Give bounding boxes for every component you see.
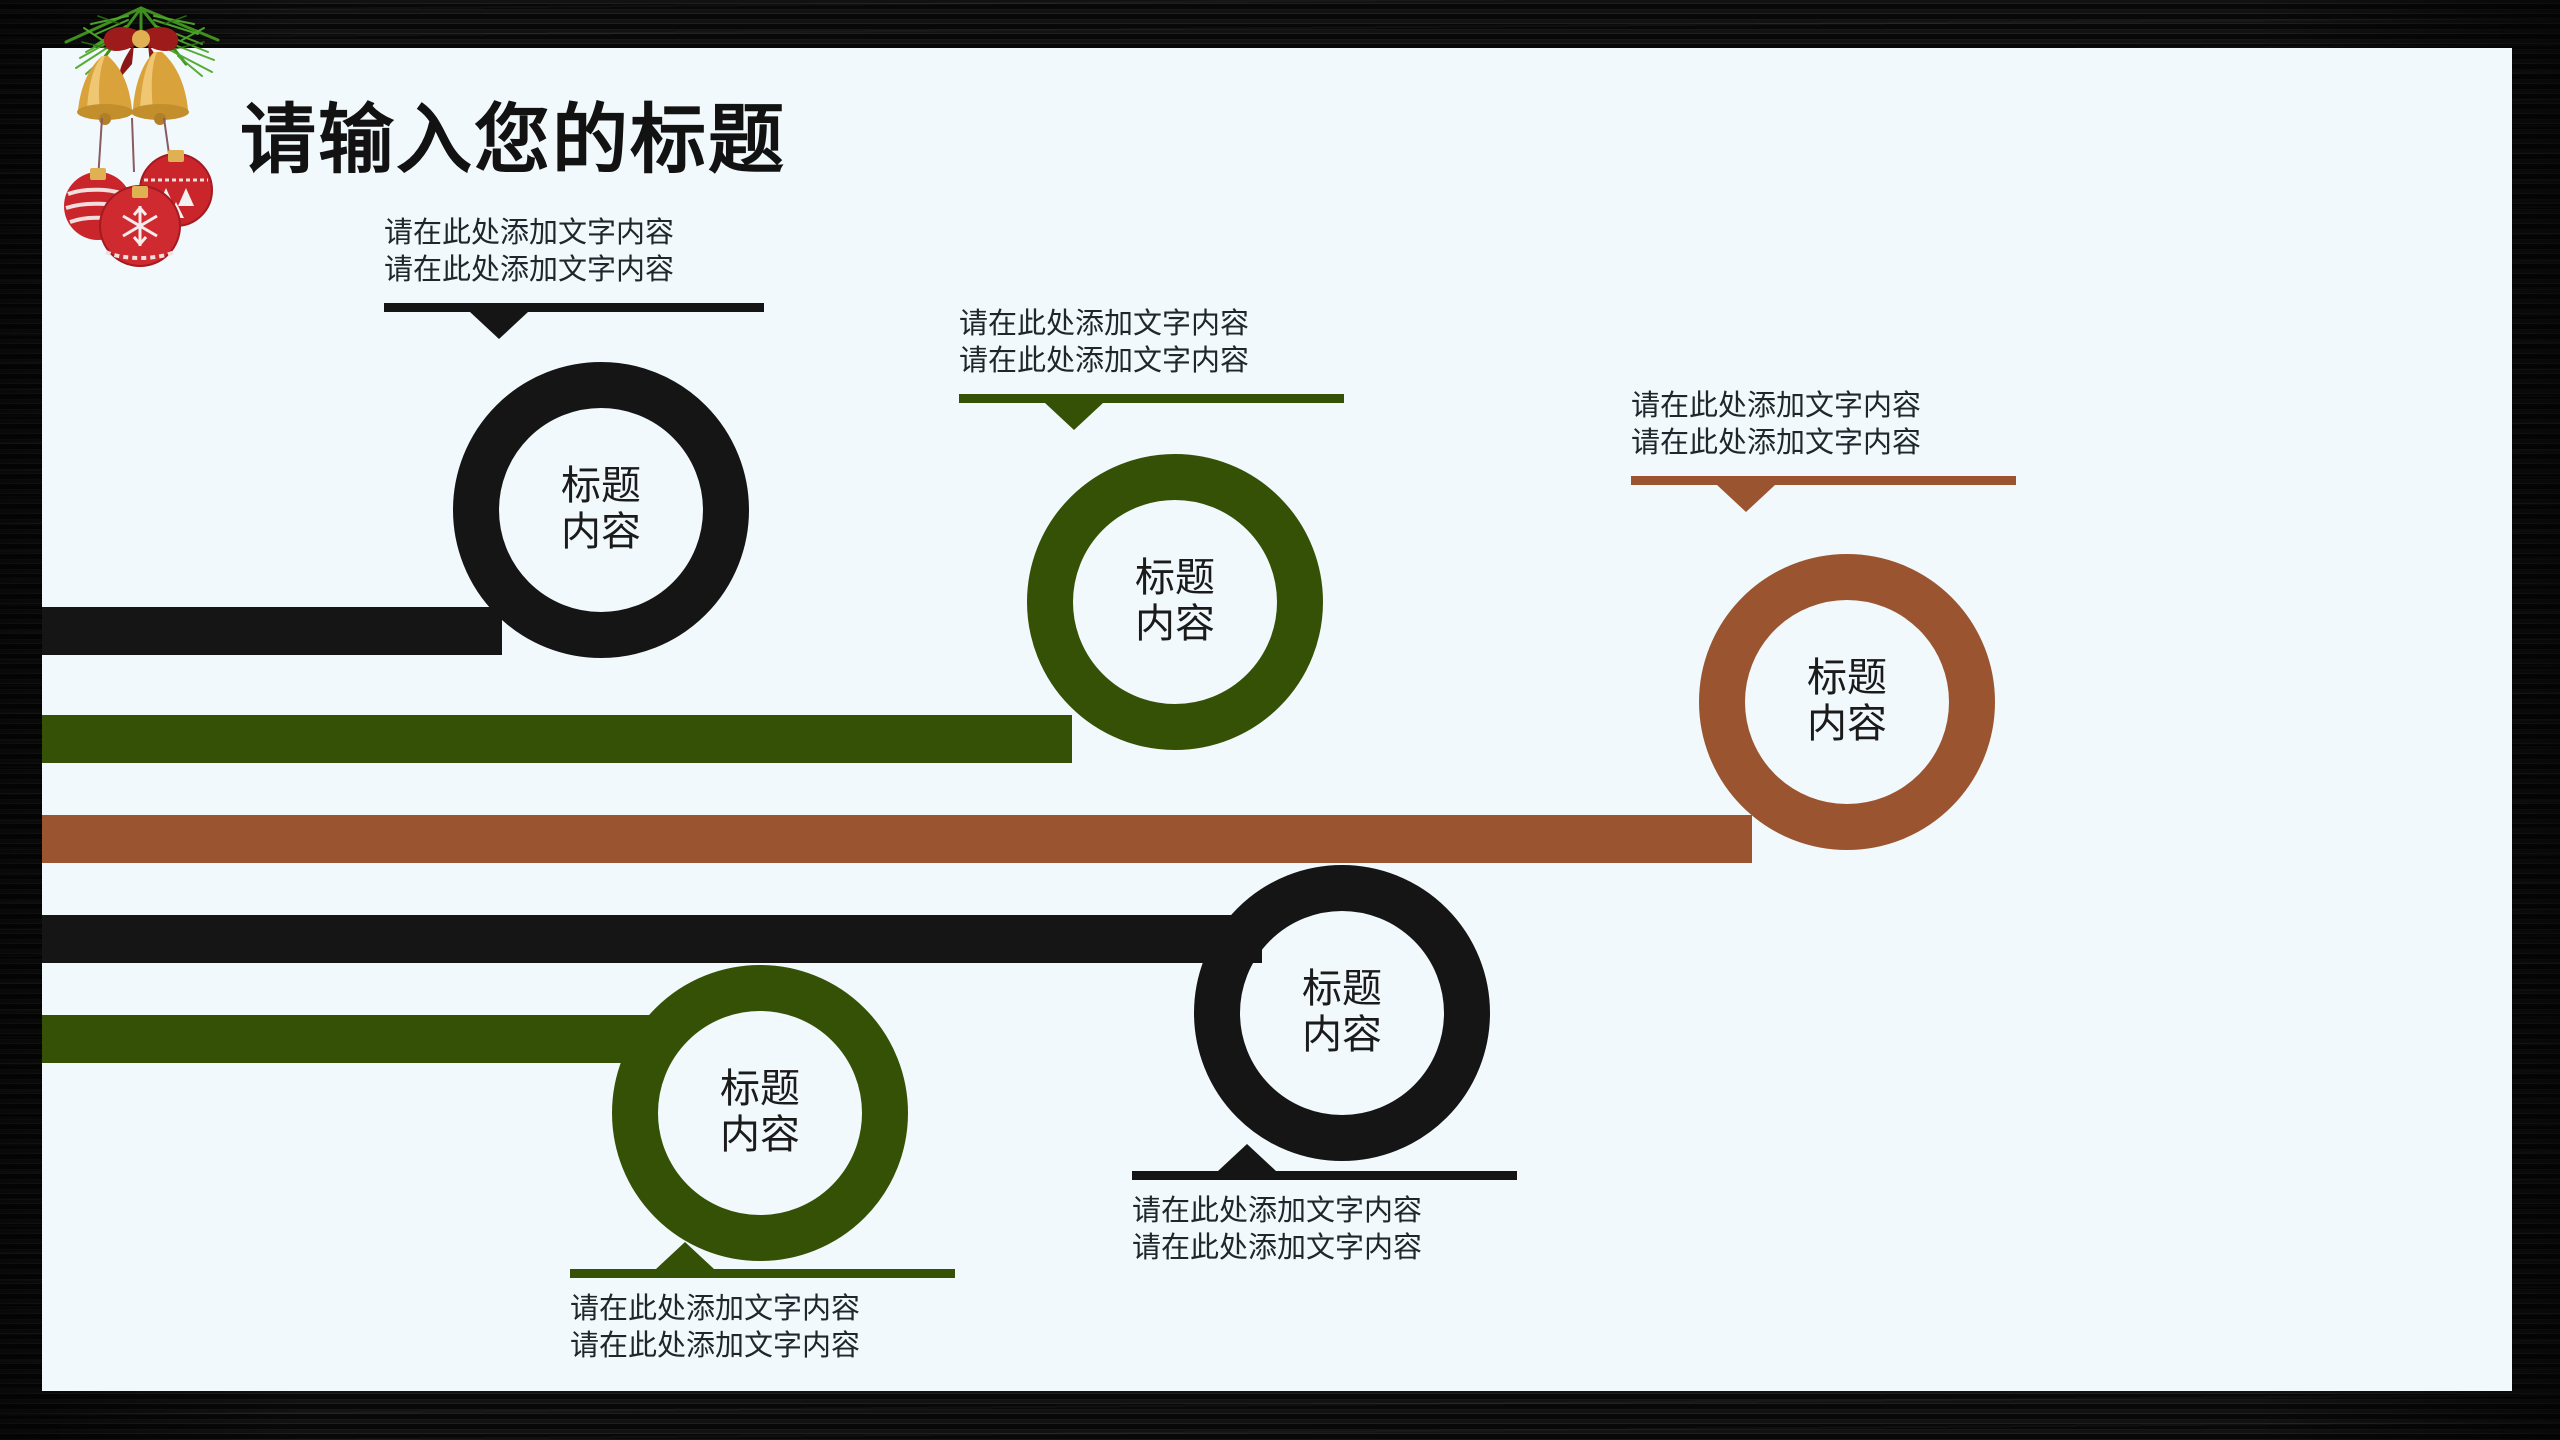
connector-line-green-lower [42, 1015, 662, 1063]
caption-node-5: 请在此处添加文字内容 请在此处添加文字内容 [1132, 1171, 1517, 1267]
connector-line-black-lower [42, 915, 1262, 963]
caption-text: 请在此处添加文字内容 请在此处添加文字内容 [570, 1291, 955, 1365]
caption-pointer-down-icon [470, 312, 528, 339]
node-circle-5[interactable]: 标题 内容 [1194, 865, 1490, 1161]
caption-text: 请在此处添加文字内容 请在此处添加文字内容 [1631, 388, 2016, 462]
caption-bar [384, 303, 764, 312]
caption-text: 请在此处添加文字内容 请在此处添加文字内容 [384, 215, 764, 289]
christmas-decoration [36, 0, 246, 294]
caption-bar [570, 1269, 955, 1278]
connector-line-brown [42, 815, 1752, 863]
caption-pointer-down-icon [1717, 485, 1775, 512]
caption-pointer-up-icon [656, 1242, 714, 1269]
node-circle-label: 标题 内容 [1135, 556, 1215, 647]
node-circle-1[interactable]: 标题 内容 [453, 362, 749, 658]
caption-node-1: 请在此处添加文字内容 请在此处添加文字内容 [384, 215, 764, 312]
caption-node-2: 请在此处添加文字内容 请在此处添加文字内容 [959, 306, 1344, 403]
node-circle-2[interactable]: 标题 内容 [1027, 454, 1323, 750]
caption-bar [959, 394, 1344, 403]
slide-canvas: 请在此处添加文字内容 请在此处添加文字内容 标题 内容 请在此处添加文字内容 请… [0, 0, 2560, 1440]
node-circle-label: 标题 内容 [720, 1067, 800, 1158]
node-circle-3[interactable]: 标题 内容 [1699, 554, 1995, 850]
caption-bar [1631, 476, 2016, 485]
node-circle-label: 标题 内容 [1302, 967, 1382, 1058]
connector-line-black-upper [42, 607, 502, 655]
node-circle-4[interactable]: 标题 内容 [612, 965, 908, 1261]
caption-text: 请在此处添加文字内容 请在此处添加文字内容 [1132, 1193, 1517, 1267]
caption-text: 请在此处添加文字内容 请在此处添加文字内容 [959, 306, 1344, 380]
christmas-bells-icon [36, 0, 246, 294]
caption-node-3: 请在此处添加文字内容 请在此处添加文字内容 [1631, 388, 2016, 485]
caption-bar [1132, 1171, 1517, 1180]
page-title: 请输入您的标题 [240, 78, 786, 188]
content-card: 请在此处添加文字内容 请在此处添加文字内容 标题 内容 请在此处添加文字内容 请… [42, 48, 2512, 1391]
node-circle-label: 标题 内容 [561, 464, 641, 555]
caption-node-4: 请在此处添加文字内容 请在此处添加文字内容 [570, 1269, 955, 1365]
node-circle-label: 标题 内容 [1807, 656, 1887, 747]
caption-pointer-down-icon [1045, 403, 1103, 430]
connector-line-green-upper [42, 715, 1072, 763]
caption-pointer-up-icon [1218, 1144, 1276, 1171]
